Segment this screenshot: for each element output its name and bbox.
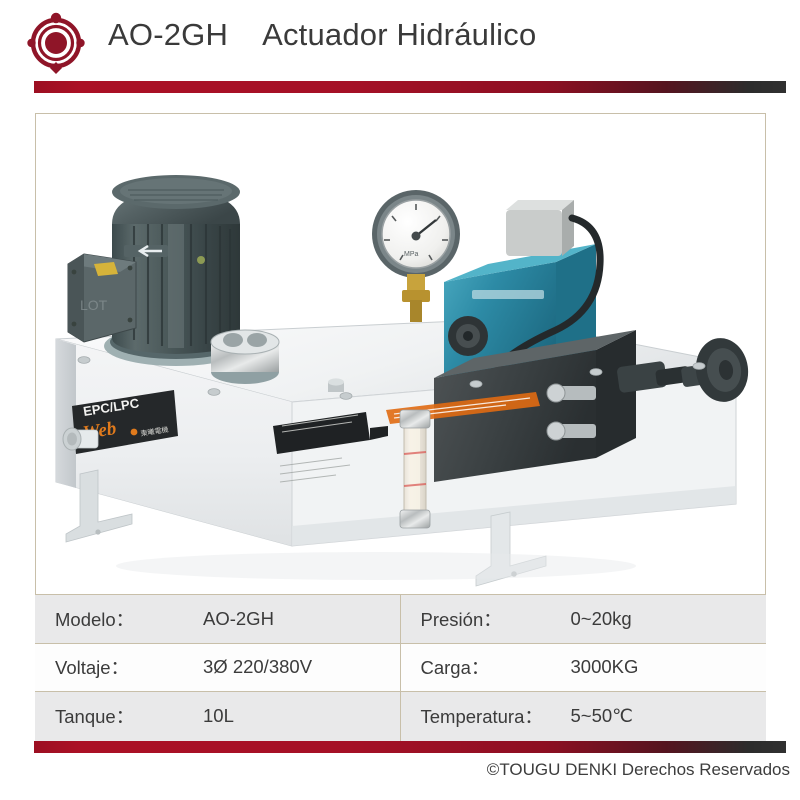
spec-value-presion: 0~20kg xyxy=(571,608,632,630)
oil-level-sight-glass xyxy=(400,410,430,528)
table-row: Voltaje： 3Ø 220/380V Carga： 3000KG xyxy=(35,644,766,693)
table-row: Tanque： 10L Temperatura： 5~50℃ xyxy=(35,692,766,741)
spec-cell-voltaje: Voltaje： 3Ø 220/380V xyxy=(35,644,401,692)
product-spec-page: AO-2GH Actuador Hidráulico xyxy=(0,0,800,800)
spec-value-carga: 3000KG xyxy=(571,656,639,678)
spec-value-voltaje: 3Ø 220/380V xyxy=(203,656,312,678)
page-title: AO-2GH Actuador Hidráulico xyxy=(108,17,536,53)
spec-cell-temperatura: Temperatura： 5~50℃ xyxy=(401,692,767,741)
spec-label-temperatura: Temperatura： xyxy=(401,703,571,729)
spec-cell-tanque: Tanque： 10L xyxy=(35,692,401,741)
spec-value-modelo: AO-2GH xyxy=(203,608,274,630)
company-logo xyxy=(27,12,85,74)
spec-label-carga: Carga： xyxy=(401,654,571,680)
table-row: Modelo： AO-2GH Presión： 0~20kg xyxy=(35,595,766,644)
specifications-table: Modelo： AO-2GH Presión： 0~20kg Voltaje： … xyxy=(35,595,766,741)
concentric-rings-logo-icon xyxy=(27,12,85,74)
spec-label-modelo: Modelo： xyxy=(35,606,210,632)
top-plug xyxy=(328,378,344,392)
footer-divider-bar xyxy=(34,741,786,753)
spec-value-tanque: 10L xyxy=(203,705,234,727)
header-divider-bar xyxy=(34,81,786,93)
drain-plug xyxy=(63,428,98,450)
spec-value-temperatura: 5~50℃ xyxy=(571,705,633,727)
spec-label-voltaje: Voltaje： xyxy=(35,654,210,680)
product-photo: LOT xyxy=(36,114,766,595)
title-model-code: AO-2GH xyxy=(108,17,228,53)
svg-text:LOT: LOT xyxy=(80,297,108,313)
page-header: AO-2GH Actuador Hidráulico xyxy=(0,0,800,78)
spec-cell-presion: Presión： 0~20kg xyxy=(401,595,767,643)
spec-cell-carga: Carga： 3000KG xyxy=(401,644,767,692)
spec-label-presion: Presión： xyxy=(401,606,571,632)
filler-cap xyxy=(211,330,279,384)
hydraulic-power-unit-illustration: LOT xyxy=(36,114,766,595)
svg-text:MPa: MPa xyxy=(404,251,419,258)
copyright-notice: ©TOUGU DENKI Derechos Reservados xyxy=(0,760,790,780)
title-product-name: Actuador Hidráulico xyxy=(262,17,536,53)
rotation-arrow-icon xyxy=(124,245,168,257)
spec-label-tanque: Tanque： xyxy=(35,703,210,729)
spec-cell-modelo: Modelo： AO-2GH xyxy=(35,595,401,643)
product-image-panel: LOT xyxy=(35,113,766,595)
